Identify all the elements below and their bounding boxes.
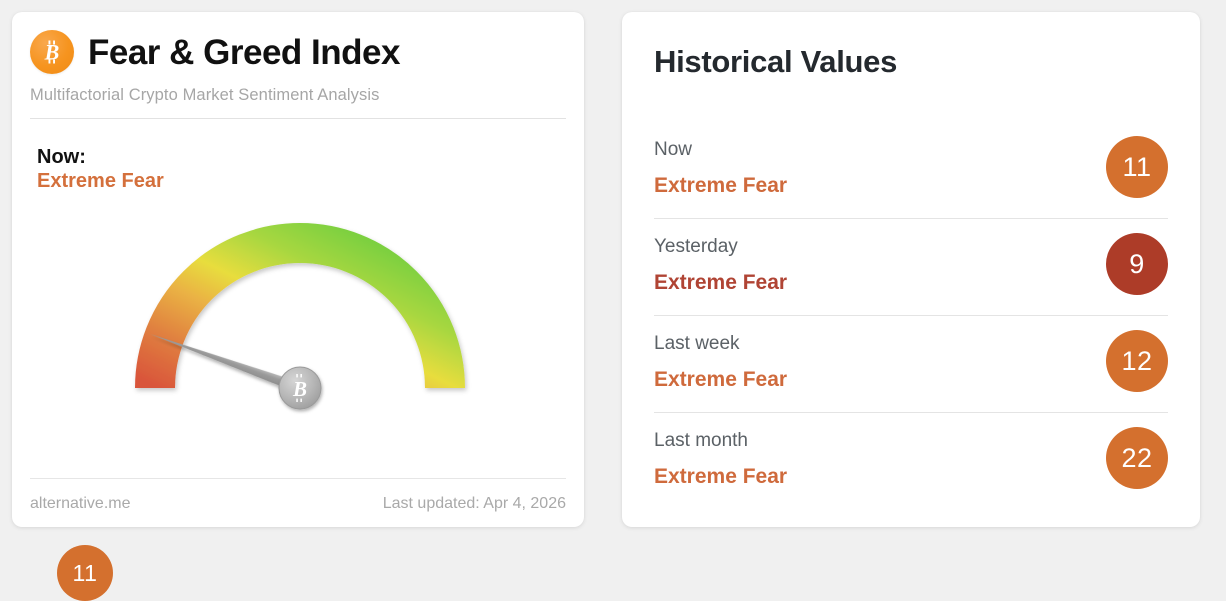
svg-text:B: B [44,40,60,65]
historical-values-title: Historical Values [654,44,897,80]
history-row-period: Last week [654,333,740,355]
footer-divider [30,478,566,479]
history-row-sentiment: Extreme Fear [654,368,787,392]
header-divider [30,118,566,119]
gauge-chart: B 11 [12,200,584,485]
gauge-card-footer: alternative.me Last updated: Apr 4, 2026 [30,495,566,513]
history-row-sentiment: Extreme Fear [654,174,787,198]
now-sentiment-value: Extreme Fear [37,168,164,195]
history-row-badge: 12 [1106,330,1168,392]
title-row: B Fear & Greed Index [12,12,584,74]
gauge-value-badge: 11 [57,545,113,601]
fear-greed-gauge-card: B Fear & Greed Index Multifactorial Cryp… [12,12,584,527]
history-row: Last monthExtreme Fear22 [654,413,1168,509]
historical-values-card: Historical Values NowExtreme Fear11Yeste… [622,12,1200,527]
history-row-sentiment: Extreme Fear [654,271,787,295]
gauge-card-header: B Fear & Greed Index Multifactorial Cryp… [12,12,584,119]
svg-text:B: B [292,377,307,401]
source-label: alternative.me [30,495,131,513]
history-row-badge: 22 [1106,427,1168,489]
history-row: Last weekExtreme Fear12 [654,316,1168,413]
gauge-value-label: 11 [73,560,98,587]
historical-values-list: NowExtreme Fear11YesterdayExtreme Fear9L… [654,122,1168,509]
history-row-badge: 11 [1106,136,1168,198]
last-updated-label: Last updated: Apr 4, 2026 [383,495,566,513]
page-title: Fear & Greed Index [88,35,400,70]
history-row: NowExtreme Fear11 [654,122,1168,219]
current-value-block: Now: Extreme Fear [37,146,164,195]
app-root: B Fear & Greed Index Multifactorial Cryp… [0,0,1226,555]
history-row-period: Last month [654,430,748,452]
history-row: YesterdayExtreme Fear9 [654,219,1168,316]
history-row-period: Now [654,139,692,161]
now-label: Now: [37,146,164,168]
history-row-period: Yesterday [654,236,738,258]
history-row-badge: 9 [1106,233,1168,295]
history-row-sentiment: Extreme Fear [654,465,787,489]
bitcoin-icon: B [30,30,74,74]
page-subtitle: Multifactorial Crypto Market Sentiment A… [12,74,584,105]
